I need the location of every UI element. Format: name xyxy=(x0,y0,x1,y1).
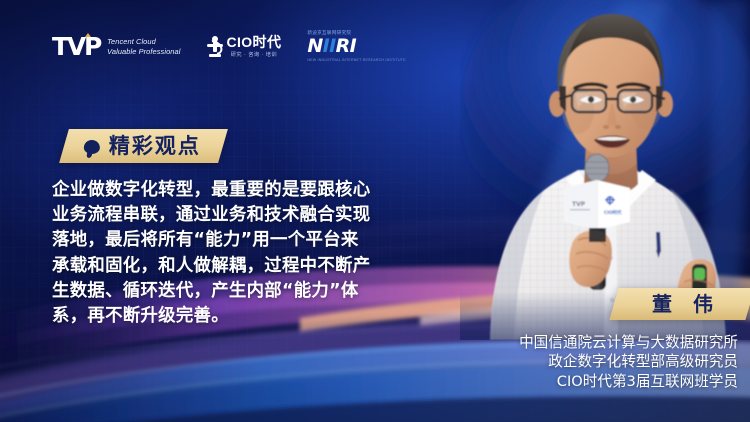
credential-line: CIO时代第3届互联网班学员 xyxy=(408,372,738,391)
tvp-tagline: Tencent Cloud Valuable Professional xyxy=(107,37,180,56)
cio-subtitle: 研究 · 咨询 · 培训 xyxy=(231,51,277,58)
tvp-tagline-line1: Tencent Cloud xyxy=(107,37,180,46)
tvp-tagline-line2: Valuable Professional xyxy=(107,47,180,56)
niiri-part-n: N xyxy=(307,35,322,57)
svg-text:CIO时代: CIO时代 xyxy=(604,209,622,216)
quote-line: 承载和固化，和人做解耦，过程中不断产 xyxy=(52,254,362,279)
tvp-wordmark: TVP xyxy=(52,34,100,59)
quote-line: 企业做数字化转型，最重要的是要跟核心 xyxy=(52,178,362,203)
niiri-part-ii: II xyxy=(323,35,336,57)
niiri-wordmark: NIIRI xyxy=(307,37,356,56)
credential-line: 政企数字化转型部高级研究员 xyxy=(408,352,738,371)
sponsor-logo-bar: TVP Tencent Cloud Valuable Professional … xyxy=(52,30,406,63)
quote-line: 落地，最后将所有“能力”用一个平台来 xyxy=(52,228,362,253)
cio-text-block: CIO时代 研究 · 咨询 · 培训 xyxy=(226,35,281,59)
niiri-part-ri: RI xyxy=(336,35,357,57)
quote-text: 企业做数字化转型，最重要的是要跟核心 业务流程串联，通过业务和技术融合实现 落地… xyxy=(52,178,362,329)
section-badge-inner: 精彩观点 xyxy=(84,136,201,157)
cio-figure-icon xyxy=(206,36,223,57)
logo-niiri: 新迪京互联网研究院 NIIRI NEW INDUSTRIAL INTERNET … xyxy=(307,30,405,63)
svg-text:TVP: TVP xyxy=(572,201,586,208)
logo-tvp: TVP Tencent Cloud Valuable Professional xyxy=(52,34,180,59)
speaker-nameplate: 董 伟 xyxy=(609,288,750,320)
quote-line: 业务流程串联，通过业务和技术融合实现 xyxy=(52,203,362,228)
speech-bubble-icon xyxy=(84,139,100,153)
speaker-name: 董 伟 xyxy=(645,294,720,314)
credential-line: 中国信通院云计算与大数据研究所 xyxy=(408,333,738,352)
cio-wordmark: CIO时代 xyxy=(226,35,281,49)
quote-line: 系，再不断升级完善。 xyxy=(52,304,362,329)
speaker-credentials: 中国信通院云计算与大数据研究所 政企数字化转型部高级研究员 CIO时代第3届互联… xyxy=(408,333,738,391)
slide-canvas: TVP CIO时代 xyxy=(0,0,750,422)
section-badge-label: 精彩观点 xyxy=(109,136,201,157)
logo-cio: CIO时代 研究 · 咨询 · 培训 xyxy=(206,35,281,59)
section-badge: 精彩观点 xyxy=(59,129,228,163)
niiri-bottom-label: NEW INDUSTRIAL INTERNET RESEARCH INSTITU… xyxy=(307,58,405,63)
quote-line: 生数据、循环迭代，产生内部“能力”体 xyxy=(52,279,362,304)
